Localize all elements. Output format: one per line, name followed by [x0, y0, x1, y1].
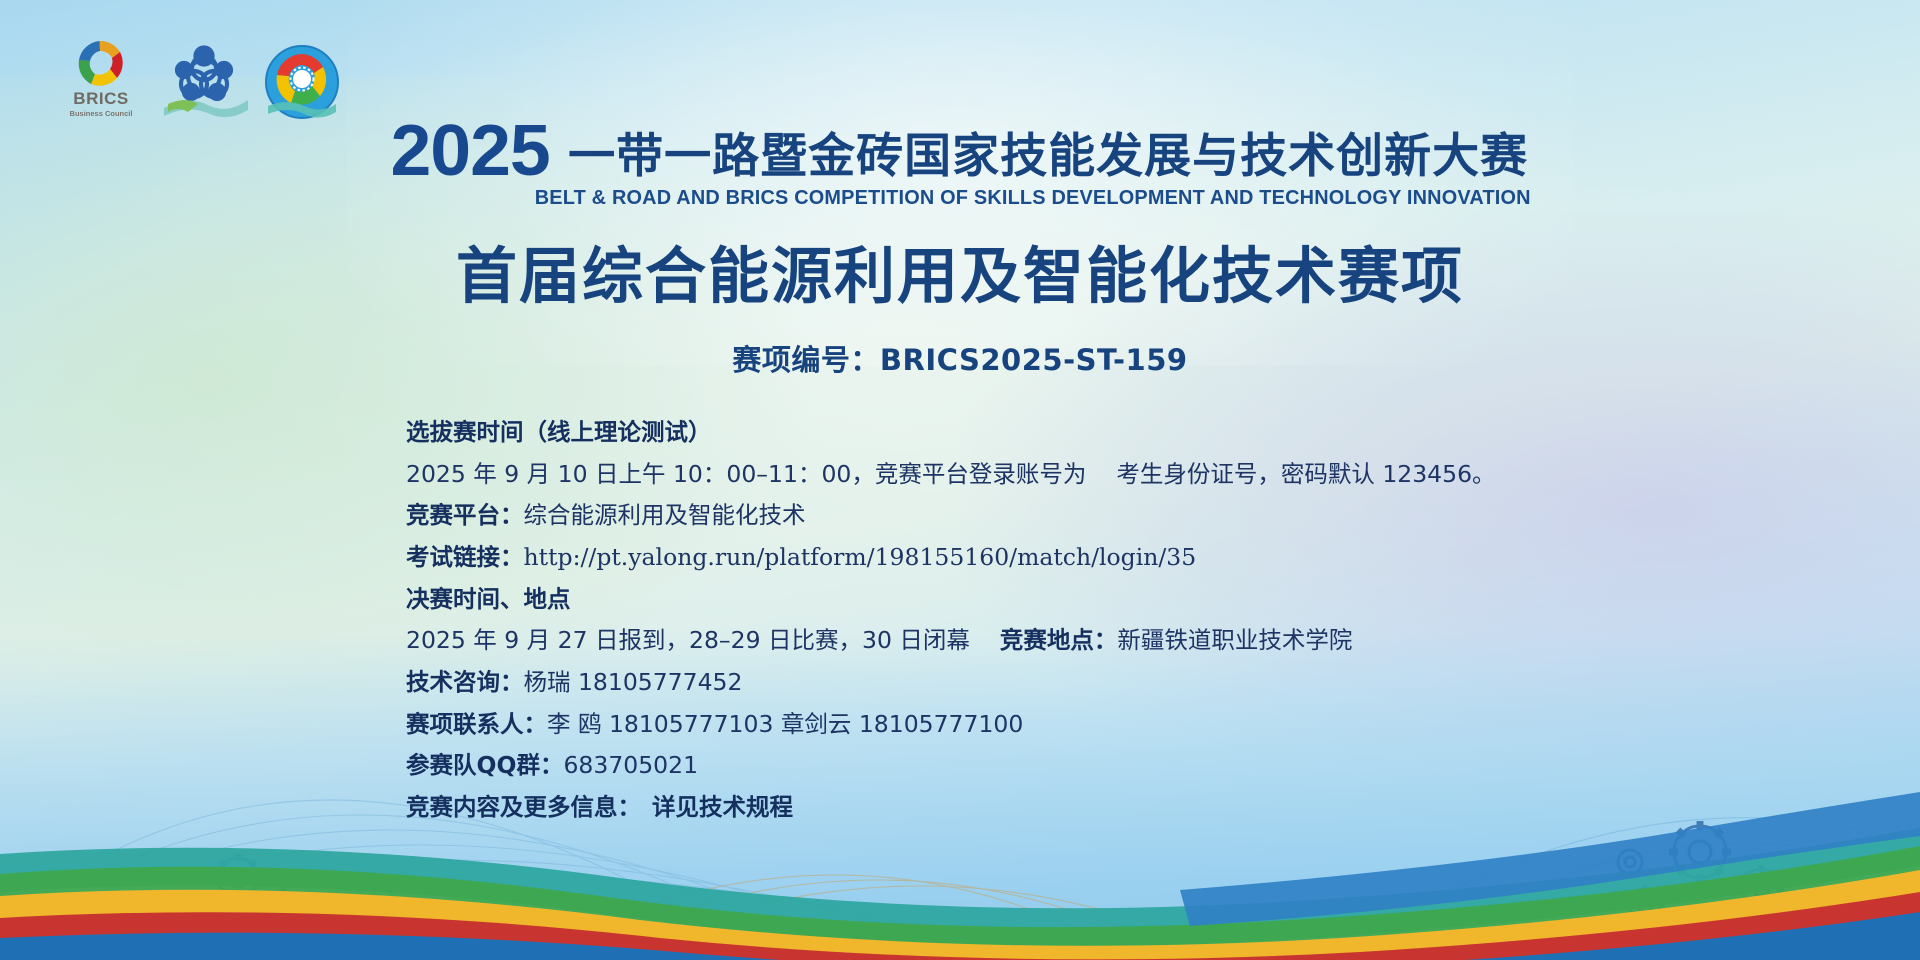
exam-link-value[interactable]: http://pt.yalong.run/platform/198155160/… — [524, 543, 1197, 572]
info-row: 考试链接： http://pt.yalong.run/platform/1981… — [406, 543, 1496, 572]
skills-competition-badge — [264, 44, 340, 120]
poster-canvas: BRICS Business Council — [0, 0, 1920, 960]
platform-value: 综合能源利用及智能化技术 — [524, 501, 806, 530]
page-title: 首届综合能源利用及智能化技术赛项 — [0, 226, 1920, 315]
final-heading: 决赛时间、地点 — [406, 585, 571, 614]
info-row: 2025 年 9 月 10 日上午 10：00–11：00，竞赛平台登录账号为 … — [406, 460, 1496, 489]
event-en-title: BELT & ROAD AND BRICS COMPETITION OF SKI… — [29, 186, 1891, 210]
brics-wordmark: BRICS — [73, 89, 128, 108]
brics-business-council-logo: BRICS Business Council — [58, 34, 144, 120]
header-titles: 2025 一带一路暨金砖国家技能发展与技术创新大赛 BELT & ROAD AN… — [0, 118, 1920, 379]
venue-label: 竞赛地点： — [1000, 626, 1118, 655]
brics-star-logo: BRICS Business Council — [58, 34, 144, 120]
logo-group: BRICS Business Council — [58, 34, 340, 120]
selection-time-heading: 选拔赛时间（线上理论测试） — [406, 418, 712, 447]
selection-time-detail-2: 考生身份证号，密码默认 123456。 — [1116, 460, 1495, 489]
info-row: 竞赛平台： 综合能源利用及智能化技术 — [406, 501, 1496, 530]
platform-label: 竞赛平台： — [406, 501, 524, 530]
competition-code-value: BRICS2025-ST-159 — [880, 343, 1188, 377]
info-row: 决赛时间、地点 — [406, 585, 1496, 614]
competition-code: 赛项编号：BRICS2025-ST-159 — [0, 337, 1920, 379]
event-cn-title: 一带一路暨金砖国家技能发展与技术创新大赛 — [568, 133, 1528, 184]
tech-support-value: 杨瑞 18105777452 — [524, 668, 743, 697]
final-detail: 2025 年 9 月 27 日报到，28–29 日比赛，30 日闭幕 — [406, 626, 970, 655]
info-row: 赛项联系人： 李 鸥 18105777103 章剑云 18105777100 — [406, 710, 1496, 739]
tech-support-label: 技术咨询： — [406, 668, 524, 697]
belt-road-brics-emblem — [158, 34, 250, 120]
info-row: 选拔赛时间（线上理论测试） — [406, 418, 1496, 447]
contacts-label: 赛项联系人： — [406, 710, 547, 739]
brics-subtitle: Business Council — [70, 109, 133, 118]
bottom-ribbon-decoration — [0, 770, 1920, 960]
info-row: 2025 年 9 月 27 日报到，28–29 日比赛，30 日闭幕 竞赛地点：… — [406, 626, 1496, 655]
info-row: 技术咨询： 杨瑞 18105777452 — [406, 668, 1496, 697]
selection-time-detail: 2025 年 9 月 10 日上午 10：00–11：00，竞赛平台登录账号为 — [406, 460, 1086, 489]
venue-value: 新疆铁道职业技术学院 — [1117, 626, 1352, 655]
exam-link-label: 考试链接： — [406, 543, 524, 572]
competition-code-label: 赛项编号： — [732, 343, 880, 377]
contacts-value: 李 鸥 18105777103 章剑云 18105777100 — [547, 710, 1023, 739]
header-line-one: 2025 一带一路暨金砖国家技能发展与技术创新大赛 — [0, 118, 1920, 184]
event-year: 2025 — [390, 118, 549, 184]
